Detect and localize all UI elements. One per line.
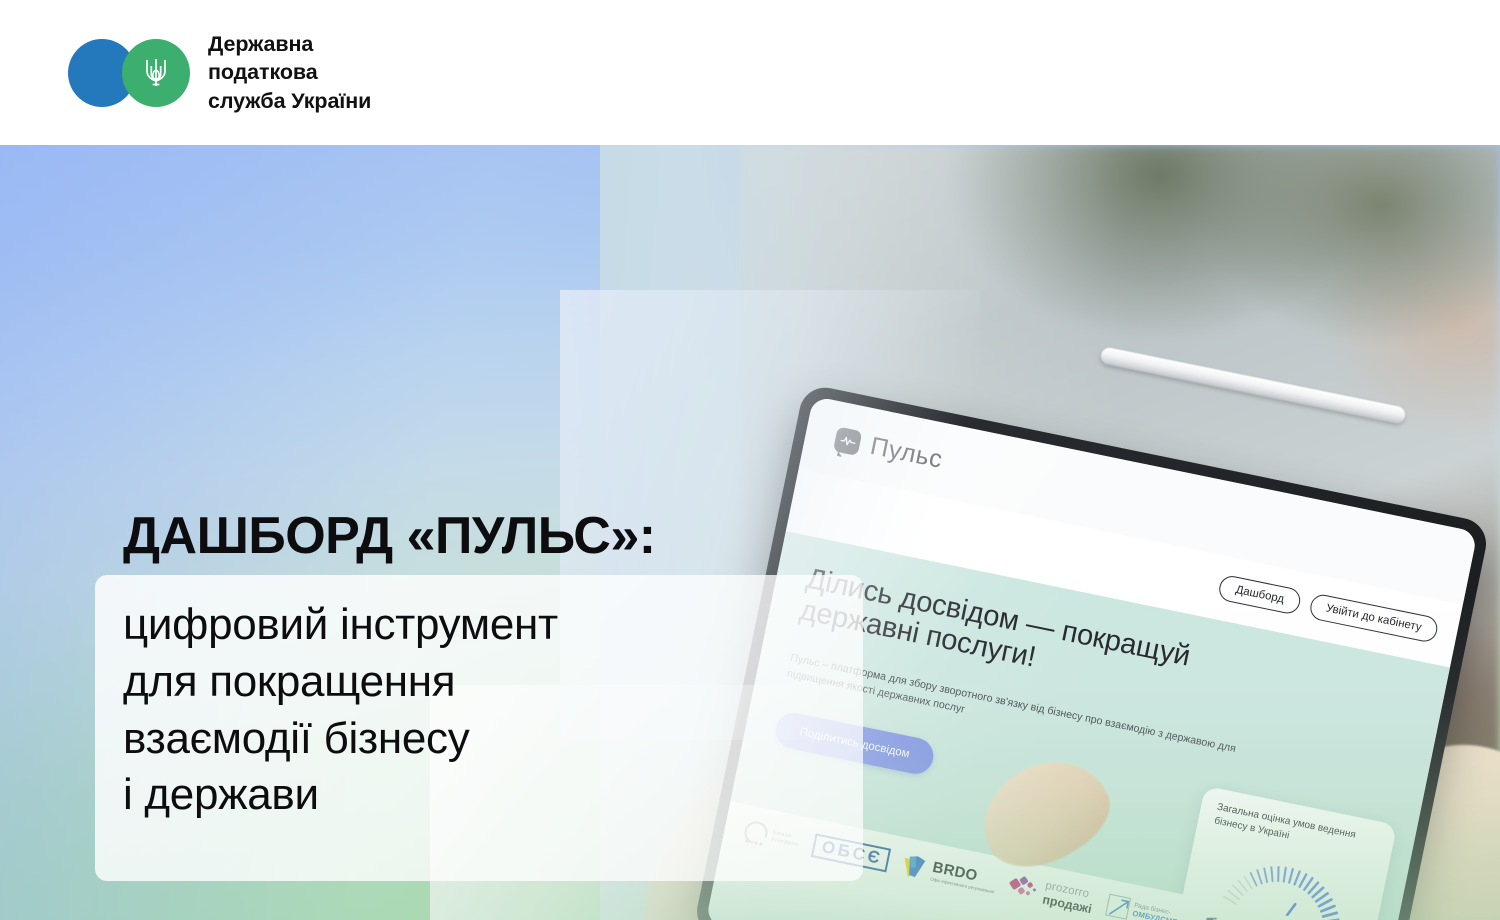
subtitle-line-3: взаємодії бізнесу: [123, 711, 558, 768]
subtitle-line-4: і держави: [123, 767, 558, 824]
tax-service-logo: Державна податкова служба України: [68, 30, 371, 116]
logo-green-circle: [122, 39, 190, 107]
tax-service-name: Державна податкова служба України: [208, 30, 371, 116]
org-line-3: служба України: [208, 87, 371, 116]
pulse-wave-icon: [833, 426, 863, 456]
subtitle-line-2: для покращення: [123, 654, 558, 711]
hero-section: Пульс Дашборд Увійти до кабінету Ділись …: [0, 145, 1500, 920]
org-line-1: Державна: [208, 30, 371, 59]
poster-page: Державна податкова служба України: [0, 0, 1500, 920]
ukrainian-trident-icon: [141, 55, 171, 91]
org-line-2: податкова: [208, 58, 371, 87]
logo-circles: [68, 39, 190, 107]
page-title: ДАШБОРД «ПУЛЬС»:: [123, 506, 656, 566]
subtitle-line-1: цифровий інструмент: [123, 597, 558, 654]
page-subtitle: цифровий інструмент для покращення взаєм…: [123, 597, 558, 824]
site-header: Державна податкова служба України: [0, 0, 1500, 145]
app-logo[interactable]: Пульс: [833, 424, 946, 474]
app-name: Пульс: [868, 431, 945, 474]
